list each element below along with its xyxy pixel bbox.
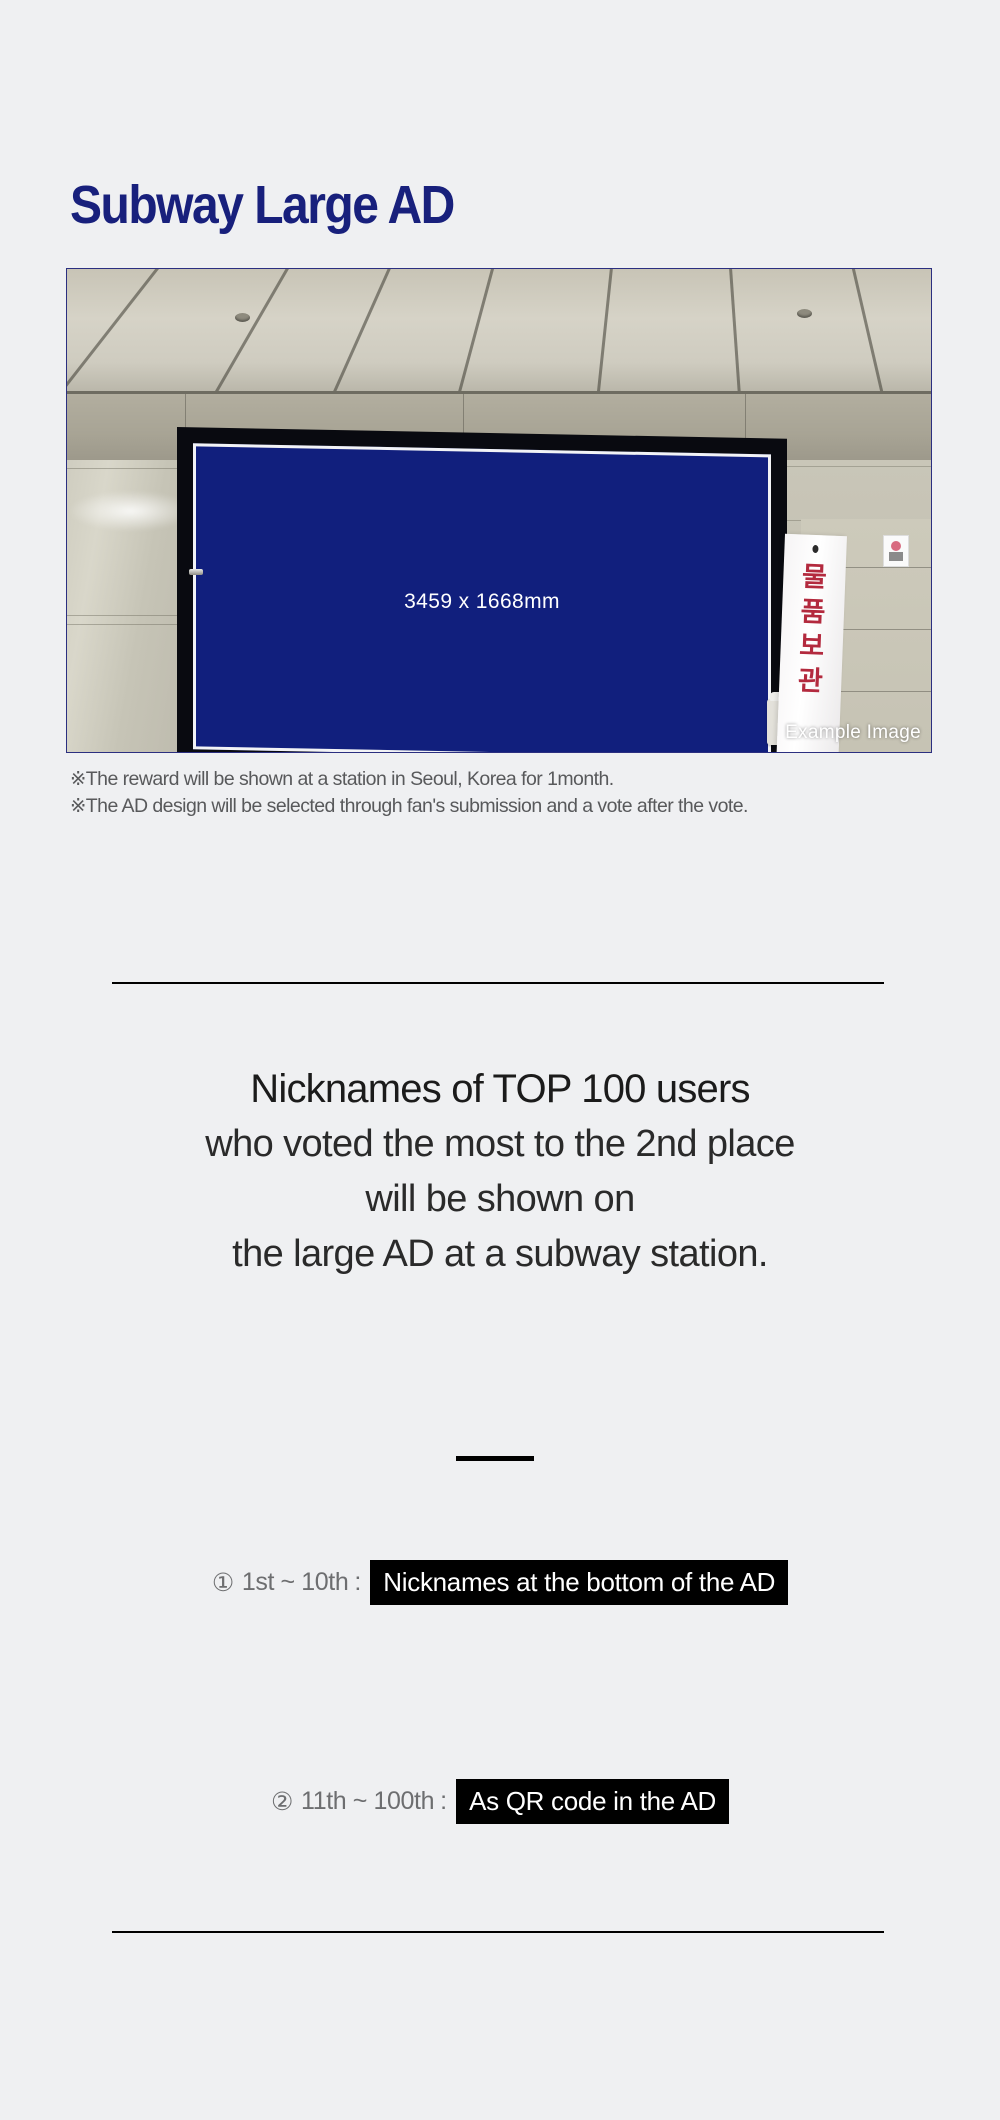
ad-size-label: 3459 x 1668mm: [196, 590, 768, 614]
reward-range-1: 1st ~ 10th: [234, 1568, 349, 1597]
example-image-watermark: Example Image: [785, 722, 921, 744]
note-line-1: ※The reward will be shown at a station i…: [70, 766, 930, 793]
ad-display-panel: 3459 x 1668mm: [193, 443, 771, 752]
reward-range-2: 11th ~ 100th: [293, 1787, 434, 1816]
reward-marker-1: ①: [212, 1568, 234, 1598]
reward-chip-1: Nicknames at the bottom of the AD: [370, 1560, 788, 1605]
page-title: Subway Large AD: [70, 175, 454, 237]
headline-line-2: who voted the most to the 2nd place: [0, 1117, 1000, 1172]
ad-display-frame: 3459 x 1668mm: [177, 427, 787, 752]
divider-bottom: [112, 1931, 884, 1933]
banner-char: 보: [780, 629, 843, 666]
headline-block: Nicknames of TOP 100 users who voted the…: [0, 1062, 1000, 1282]
banner-text: 물 품 보 관: [779, 560, 846, 700]
wall-seam: [67, 468, 185, 469]
headline-line-4: the large AD at a subway station.: [0, 1227, 1000, 1282]
section-bar: [456, 1456, 534, 1461]
photo-scene: 3459 x 1668mm 물 품 보 관 Example Image: [67, 269, 931, 752]
ceiling-vent-icon: [797, 309, 812, 318]
note-line-2: ※The AD design will be selected through …: [70, 793, 930, 820]
reward-marker-2: ②: [271, 1787, 293, 1817]
page-root: Subway Large AD: [0, 0, 1000, 2120]
reward-chip-2: As QR code in the AD: [456, 1779, 729, 1824]
wall-light-reflection: [69, 491, 181, 531]
reward-row-2: ② 11th ~ 100th : As QR code in the AD: [0, 1779, 1000, 1824]
ceiling: [67, 269, 931, 393]
banner-char: 관: [779, 663, 842, 700]
reward-colon-1: :: [348, 1568, 370, 1597]
storage-banner: 물 품 보 관: [777, 534, 847, 752]
wall-seam: [67, 624, 185, 625]
headline-line-1: Nicknames of TOP 100 users: [0, 1062, 1000, 1117]
frame-mount-clip: [189, 569, 203, 575]
subway-ad-photo: 3459 x 1668mm 물 품 보 관 Example Image: [66, 268, 932, 753]
banner-char: 물: [783, 560, 846, 597]
ceiling-vent-icon: [235, 313, 250, 322]
reward-row-1: ① 1st ~ 10th : Nicknames at the bottom o…: [0, 1560, 1000, 1605]
banner-char: 품: [781, 594, 844, 631]
divider-top: [112, 982, 884, 984]
banner-hole: [812, 545, 818, 553]
headline-line-3: will be shown on: [0, 1172, 1000, 1227]
notes-block: ※The reward will be shown at a station i…: [70, 766, 930, 819]
wall-seam: [67, 615, 185, 616]
reward-colon-2: :: [434, 1787, 456, 1816]
locker-sticker: [883, 535, 909, 567]
